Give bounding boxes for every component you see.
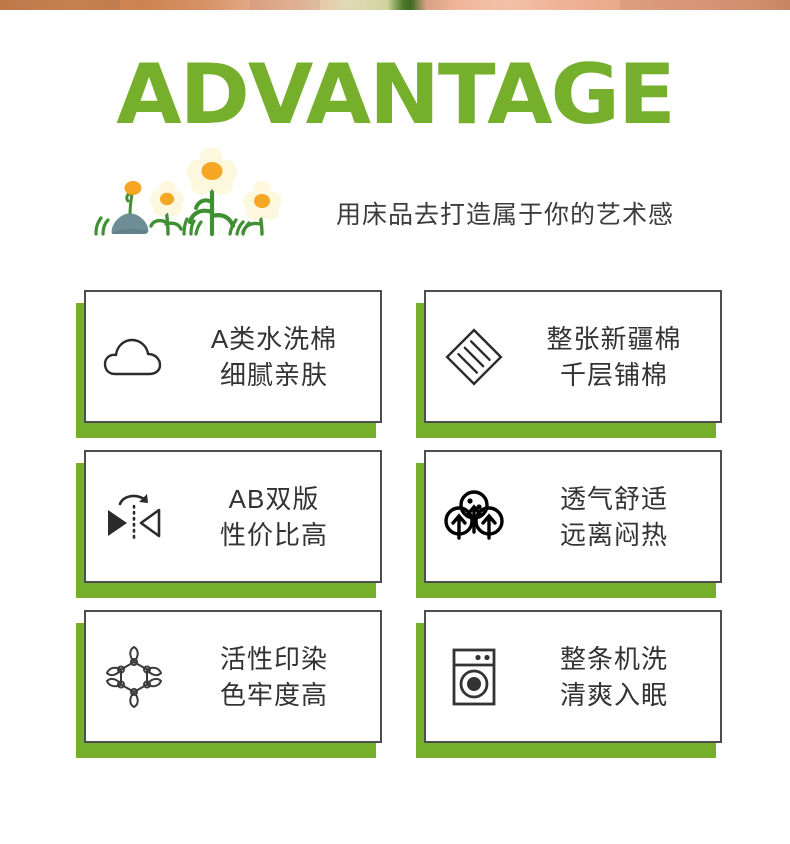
card-label-line1: 整条机洗 bbox=[522, 641, 706, 677]
advantage-card-3[interactable]: AB双版 性价比高 bbox=[84, 450, 384, 585]
card-label: 整条机洗 清爽入眠 bbox=[522, 641, 720, 713]
card-label-line2: 远离闷热 bbox=[522, 517, 706, 553]
advantage-card-1[interactable]: A类水洗棉 细腻亲肤 bbox=[84, 290, 384, 425]
card-label-line1: A类水洗棉 bbox=[182, 321, 366, 357]
card-label: A类水洗棉 细腻亲肤 bbox=[182, 321, 380, 393]
card-label-line2: 性价比高 bbox=[182, 517, 366, 553]
card-label: AB双版 性价比高 bbox=[182, 481, 380, 553]
card-label: 整张新疆棉 千层铺棉 bbox=[522, 321, 720, 393]
card-label: 透气舒适 远离闷热 bbox=[522, 481, 720, 553]
card-label-line2: 细腻亲肤 bbox=[182, 357, 366, 393]
advantage-card-6[interactable]: 整条机洗 清爽入眠 bbox=[424, 610, 724, 745]
card-body: 整张新疆棉 千层铺棉 bbox=[424, 290, 722, 423]
card-label: 活性印染 色牢度高 bbox=[182, 641, 380, 713]
card-label-line2: 清爽入眠 bbox=[522, 677, 706, 713]
flip-reversible-icon bbox=[86, 452, 182, 581]
page-title: ADVANTAGE bbox=[0, 52, 790, 138]
card-label-line1: 活性印染 bbox=[182, 641, 366, 677]
card-label-line1: AB双版 bbox=[182, 481, 366, 517]
card-label-line1: 透气舒适 bbox=[522, 481, 706, 517]
card-body: 活性印染 色牢度高 bbox=[84, 610, 382, 743]
breathable-cotton-icon bbox=[426, 452, 522, 581]
card-body: A类水洗棉 细腻亲肤 bbox=[84, 290, 382, 423]
photo-strip bbox=[0, 0, 790, 10]
card-label-line2: 千层铺棉 bbox=[522, 357, 706, 393]
card-label-line1: 整张新疆棉 bbox=[522, 321, 706, 357]
card-label-line2: 色牢度高 bbox=[182, 677, 366, 713]
flower-garden-illustration bbox=[84, 148, 299, 240]
floral-ornament-icon bbox=[86, 612, 182, 741]
layered-quilt-diamond-icon bbox=[426, 292, 522, 421]
card-body: 透气舒适 远离闷热 bbox=[424, 450, 722, 583]
advantage-card-2[interactable]: 整张新疆棉 千层铺棉 bbox=[424, 290, 724, 425]
washing-machine-icon bbox=[426, 612, 522, 741]
cloud-icon bbox=[86, 292, 182, 421]
card-body: 整条机洗 清爽入眠 bbox=[424, 610, 722, 743]
advantage-card-5[interactable]: 活性印染 色牢度高 bbox=[84, 610, 384, 745]
page-subtitle: 用床品去打造属于你的艺术感 bbox=[336, 198, 696, 232]
card-body: AB双版 性价比高 bbox=[84, 450, 382, 583]
advantage-card-4[interactable]: 透气舒适 远离闷热 bbox=[424, 450, 724, 585]
